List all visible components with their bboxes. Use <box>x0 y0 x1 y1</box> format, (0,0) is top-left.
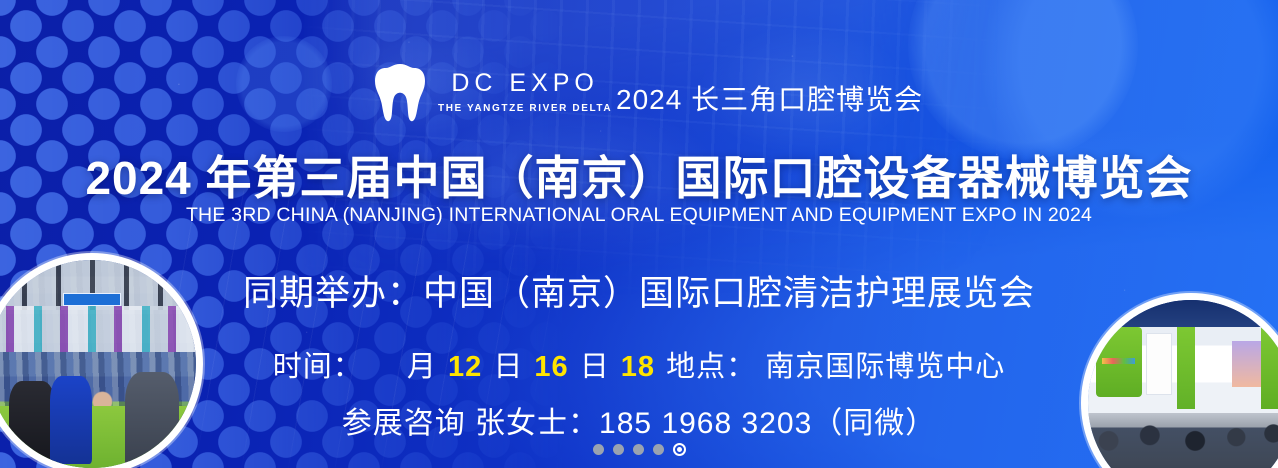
logo-brand: DC EXPO <box>451 70 599 96</box>
contact-line: 参展咨询 张女士：185 1968 3203（同微） <box>0 398 1278 442</box>
event-title-cn: 2024 年第三届中国（南京）国际口腔设备器械博览会 <box>0 142 1278 208</box>
event-subtitle-cn: 2024 长三角口腔博览会 <box>616 78 923 118</box>
event-title-en: THE 3RD CHINA (NANJING) INTERNATIONAL OR… <box>0 204 1278 227</box>
venue-name: 南京国际博览中心 <box>765 351 1005 383</box>
tooth-icon <box>374 62 426 122</box>
venue-label: 地点： <box>666 351 756 383</box>
carousel-dot-active[interactable] <box>673 443 686 456</box>
month-char: 月 <box>407 351 437 383</box>
expo-banner[interactable]: DC EXPO THE YANGTZE RIVER DELTA 2024 长三角… <box>0 0 1278 468</box>
schedule-day-3: 18 <box>619 351 657 383</box>
carousel-dot[interactable] <box>653 444 664 455</box>
day-char-1: 日 <box>493 351 523 383</box>
carousel-dot[interactable] <box>613 444 624 455</box>
expo-logo[interactable]: DC EXPO THE YANGTZE RIVER DELTA <box>374 62 612 122</box>
day-char-2: 日 <box>580 351 610 383</box>
carousel-dot[interactable] <box>593 444 604 455</box>
schedule-day-1: 12 <box>446 351 484 383</box>
concurrent-event-line: 同期举办：中国（南京）国际口腔清洁护理展览会 <box>0 265 1278 316</box>
carousel-indicators[interactable] <box>0 443 1278 456</box>
banner-content: DC EXPO THE YANGTZE RIVER DELTA 2024 长三角… <box>0 0 1278 468</box>
schedule-line: 时间： 月 12 日 16 日 18 地点： 南京国际博览中心 <box>0 343 1278 385</box>
logo-text-block: DC EXPO THE YANGTZE RIVER DELTA <box>438 70 612 114</box>
schedule-day-2: 16 <box>532 351 570 383</box>
time-label: 时间： <box>273 351 363 383</box>
carousel-dot[interactable] <box>633 444 644 455</box>
logo-tagline: THE YANGTZE RIVER DELTA <box>438 103 612 114</box>
